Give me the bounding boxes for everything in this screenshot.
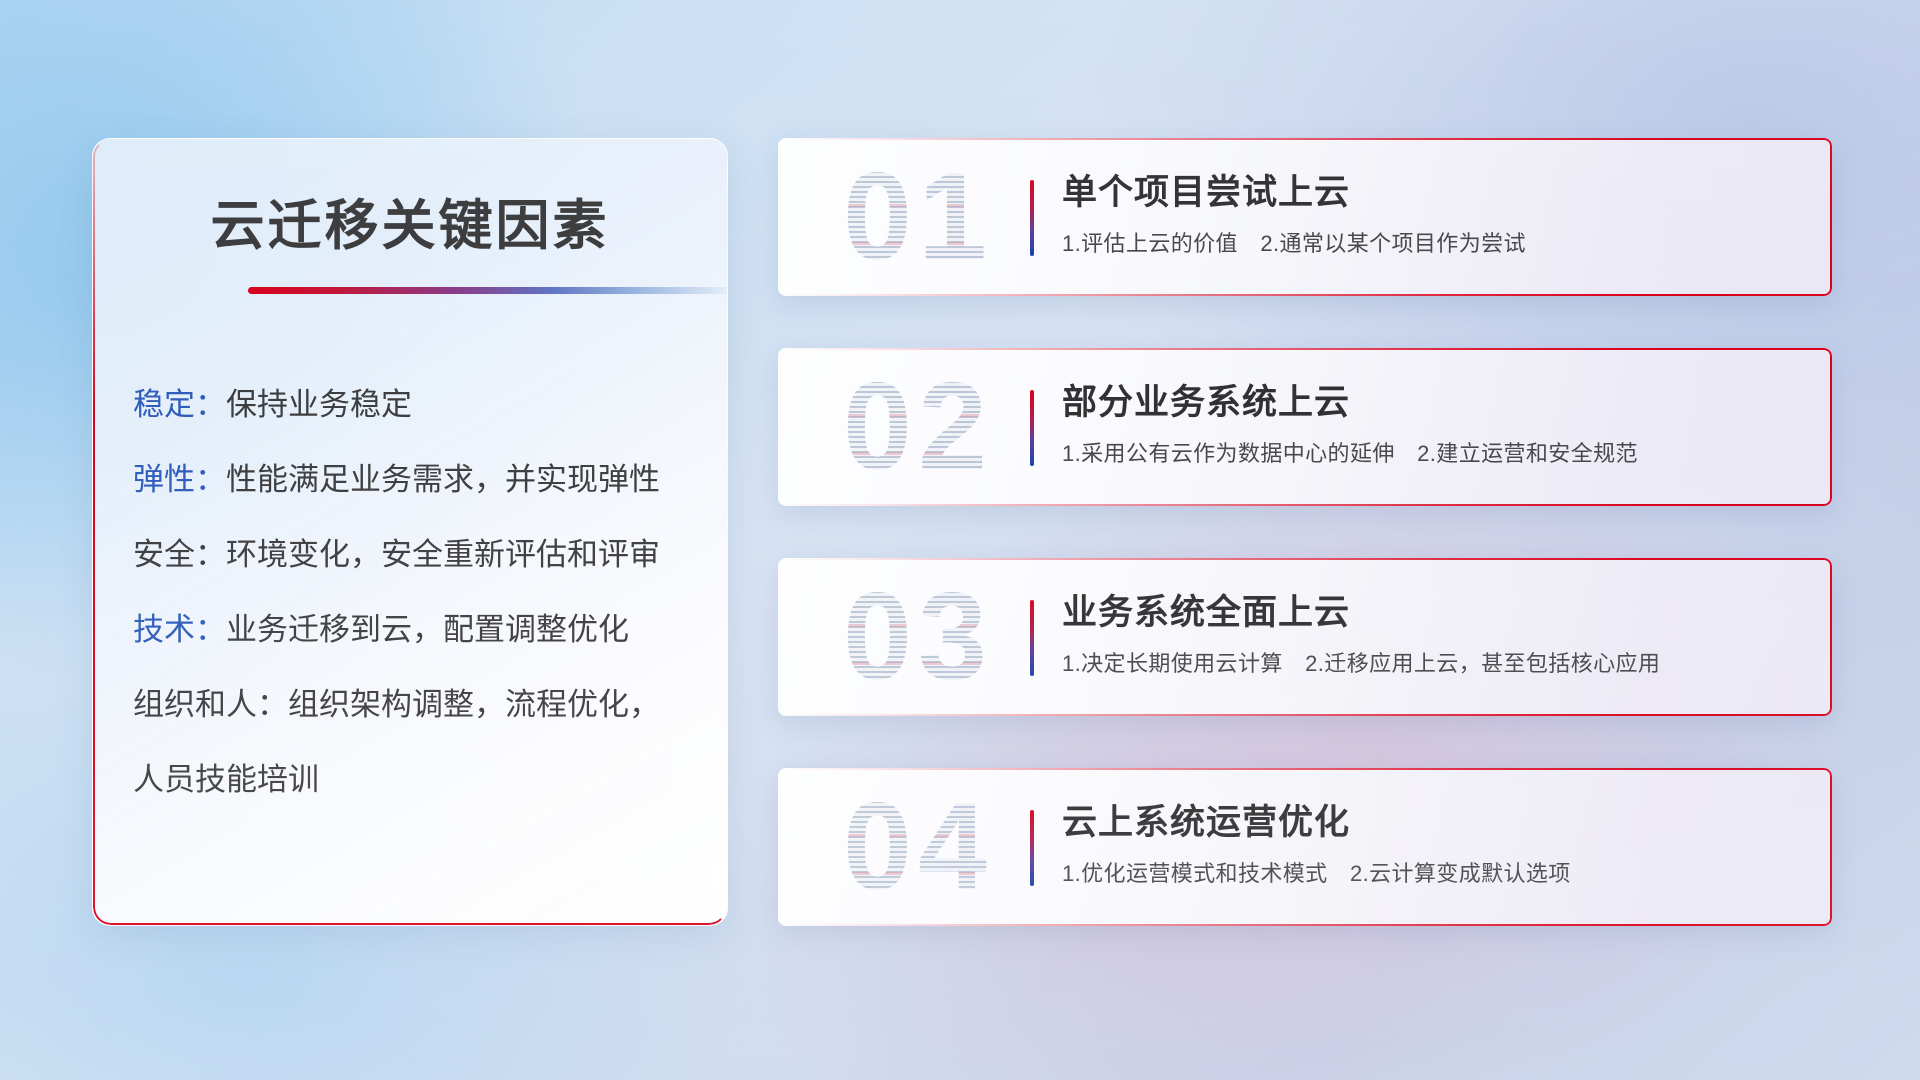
step-heading-03: 业务系统全面上云 (1062, 588, 1812, 638)
step-number-01: 01 (804, 146, 1032, 288)
step-subtext-02: 1.采用公有云作为数据中心的延伸 2.建立运营和安全规范 (1062, 438, 1812, 470)
factor-item-1: 弹性：性能满足业务需求，并实现弹性 (133, 442, 703, 517)
card-divider-bar (1030, 600, 1034, 676)
title-underline-rule (248, 287, 728, 294)
step-subtext-03: 1.决定长期使用云计算 2.迁移应用上云，甚至包括核心应用 (1062, 648, 1812, 680)
step-subtext-04: 1.优化运营模式和技术模式 2.云计算变成默认选项 (1062, 858, 1812, 890)
factor-label-3: 技术： (133, 612, 226, 647)
step-card-body-04: 云上系统运营优化 1.优化运营模式和技术模式 2.云计算变成默认选项 (1062, 798, 1812, 890)
factor-item-5: 人员技能培训 (133, 742, 703, 817)
step-card-03[interactable]: 03 03 业务系统全面上云 1.决定长期使用云计算 2.迁移应用上云，甚至包括… (778, 558, 1832, 716)
factor-label-0: 稳定： (133, 387, 226, 422)
step-number-03: 03 (804, 566, 1032, 708)
step-heading-01: 单个项目尝试上云 (1062, 168, 1812, 218)
step-heading-02: 部分业务系统上云 (1062, 378, 1812, 428)
page-title: 云迁移关键因素 (93, 181, 727, 260)
step-number-04: 04 (804, 776, 1032, 918)
factor-body-0: 保持业务稳定 (226, 387, 412, 422)
factor-item-2: 安全：环境变化，安全重新评估和评审 (133, 517, 703, 592)
factor-list: 稳定：保持业务稳定 弹性：性能满足业务需求，并实现弹性 安全：环境变化，安全重新… (133, 367, 703, 817)
step-card-body-02: 部分业务系统上云 1.采用公有云作为数据中心的延伸 2.建立运营和安全规范 (1062, 378, 1812, 470)
factor-body-5: 人员技能培训 (133, 762, 319, 797)
step-card-04[interactable]: 04 04 云上系统运营优化 1.优化运营模式和技术模式 2.云计算变成默认选项 (778, 768, 1832, 926)
factor-body-4: 组织架构调整，流程优化， (288, 687, 660, 722)
factor-body-2: 环境变化，安全重新评估和评审 (226, 537, 660, 572)
card-divider-bar (1030, 180, 1034, 256)
factor-item-3: 技术：业务迁移到云，配置调整优化 (133, 592, 703, 667)
step-subtext-01: 1.评估上云的价值 2.通常以某个项目作为尝试 (1062, 228, 1812, 260)
factor-item-4: 组织和人：组织架构调整，流程优化， (133, 667, 703, 742)
step-card-01[interactable]: 01 01 单个项目尝试上云 1.评估上云的价值 2.通常以某个项目作为尝试 (778, 138, 1832, 296)
factor-label-2: 安全： (133, 537, 226, 572)
step-heading-04: 云上系统运营优化 (1062, 798, 1812, 848)
factor-body-1: 性能满足业务需求，并实现弹性 (226, 462, 660, 497)
step-number-02: 02 (804, 356, 1032, 498)
step-card-body-01: 单个项目尝试上云 1.评估上云的价值 2.通常以某个项目作为尝试 (1062, 168, 1812, 260)
factor-item-0: 稳定：保持业务稳定 (133, 367, 703, 442)
card-divider-bar (1030, 390, 1034, 466)
slide-canvas: 云迁移关键因素 稳定：保持业务稳定 弹性：性能满足业务需求，并实现弹性 安全：环… (0, 0, 1920, 1080)
factor-label-4: 组织和人： (133, 687, 288, 722)
step-card-02[interactable]: 02 02 部分业务系统上云 1.采用公有云作为数据中心的延伸 2.建立运营和安… (778, 348, 1832, 506)
factor-label-1: 弹性： (133, 462, 226, 497)
migration-steps-list: 01 01 单个项目尝试上云 1.评估上云的价值 2.通常以某个项目作为尝试 0… (778, 138, 1832, 926)
key-factors-panel: 云迁移关键因素 稳定：保持业务稳定 弹性：性能满足业务需求，并实现弹性 安全：环… (92, 138, 728, 926)
factor-body-3: 业务迁移到云，配置调整优化 (226, 612, 629, 647)
card-divider-bar (1030, 810, 1034, 886)
step-card-body-03: 业务系统全面上云 1.决定长期使用云计算 2.迁移应用上云，甚至包括核心应用 (1062, 588, 1812, 680)
